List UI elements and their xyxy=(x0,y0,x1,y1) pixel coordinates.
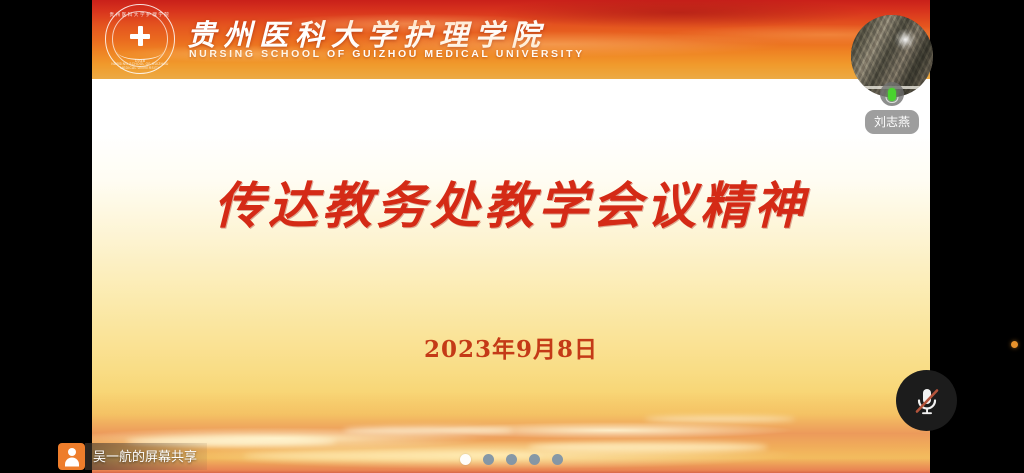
slide-date: 2023年9月8日 xyxy=(92,330,930,364)
university-seal-icon: 贵州医科大学护理学院 1938 NURSING SCHOOL OF GUIZHO… xyxy=(105,4,175,74)
screen-share-label: 吴一航的屏幕共享 xyxy=(85,443,207,470)
slide-title: 传达教务处教学会议精神 xyxy=(92,166,930,238)
seal-text-top: 贵州医科大学护理学院 xyxy=(106,12,174,18)
pagination-dots[interactable] xyxy=(92,454,930,465)
participant-tile[interactable]: 刘志燕 xyxy=(851,8,933,150)
medical-cross-icon xyxy=(130,26,150,46)
microphone-muted-icon xyxy=(910,384,944,418)
shared-screen-slide[interactable]: 贵州医科大学护理学院 1938 NURSING SCHOOL OF GUIZHO… xyxy=(92,0,930,473)
app-root: 贵州医科大学护理学院 1938 NURSING SCHOOL OF GUIZHO… xyxy=(0,0,1024,473)
seal-text-bottom: NURSING SCHOOL OF GUIZHOU MEDICAL UNIVER… xyxy=(106,62,174,70)
share-avatar xyxy=(58,443,85,470)
participant-name-label: 刘志燕 xyxy=(865,110,919,134)
edge-notification-dot[interactable] xyxy=(1011,341,1018,348)
pagination-dot-1[interactable] xyxy=(460,454,471,465)
school-name-cn: 贵州医科大学护理学院 xyxy=(187,12,547,54)
seal-year: 1938 xyxy=(106,58,174,63)
slide-header-banner: 贵州医科大学护理学院 1938 NURSING SCHOOL OF GUIZHO… xyxy=(92,0,930,79)
pagination-dot-2[interactable] xyxy=(483,454,494,465)
pagination-dot-5[interactable] xyxy=(552,454,563,465)
screen-share-indicator[interactable]: 吴一航的屏幕共享 xyxy=(58,443,207,470)
mute-toggle-button[interactable] xyxy=(896,370,957,431)
microphone-active-icon xyxy=(880,82,904,106)
pagination-dot-4[interactable] xyxy=(529,454,540,465)
person-icon xyxy=(58,443,85,470)
pagination-dot-3[interactable] xyxy=(506,454,517,465)
school-name-en: NURSING SCHOOL OF GUIZHOU MEDICAL UNIVER… xyxy=(189,48,585,60)
